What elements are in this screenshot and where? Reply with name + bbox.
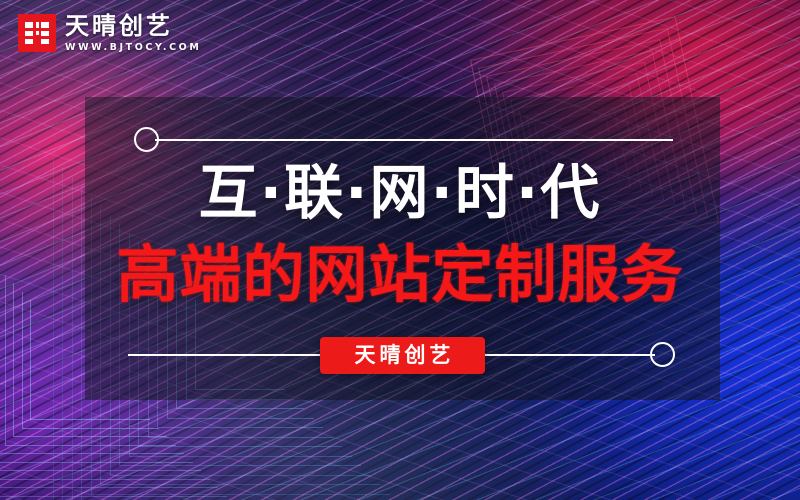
- promo-banner: 天晴创艺 WWW.BJTOCY.COM 互·联·网·时·代 高端的网站定制服务 …: [0, 0, 800, 500]
- brand-logo[interactable]: 天晴创艺 WWW.BJTOCY.COM: [18, 14, 201, 53]
- brand-badge-label: 天晴创艺: [351, 345, 455, 366]
- bottom-right-circle-icon: [650, 342, 675, 367]
- bottom-left-divider-rule: [128, 354, 323, 356]
- brand-badge[interactable]: 天晴创艺: [320, 337, 485, 374]
- top-left-circle-icon: [134, 127, 159, 152]
- headline-subtitle: 高端的网站定制服务: [0, 244, 800, 306]
- top-divider-rule: [155, 139, 673, 141]
- headline-title: 互·联·网·时·代: [0, 163, 800, 222]
- brand-website-url: WWW.BJTOCY.COM: [65, 43, 201, 53]
- tianqing-logo-mark: [18, 14, 56, 52]
- brand-name-cn: 天晴创艺: [65, 14, 201, 38]
- brand-logo-text: 天晴创艺 WWW.BJTOCY.COM: [65, 14, 201, 53]
- bottom-right-divider-rule: [483, 354, 655, 356]
